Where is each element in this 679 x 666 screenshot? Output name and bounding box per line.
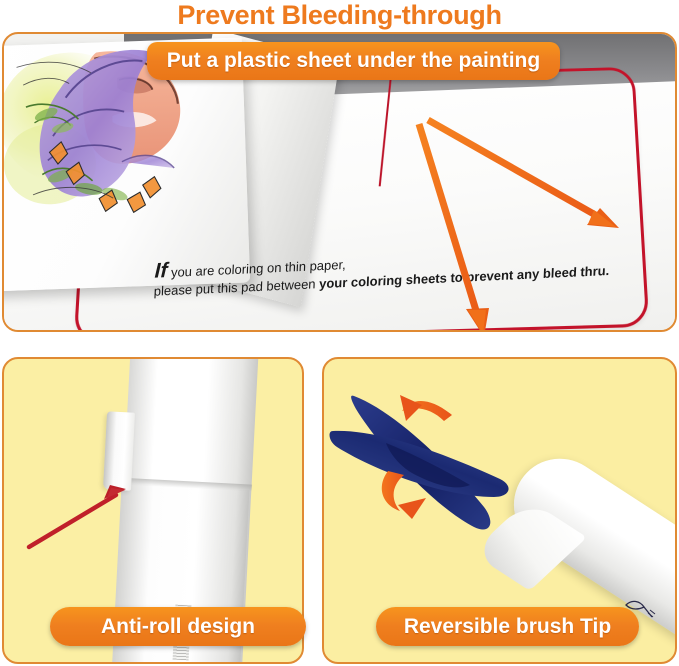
page-title: Prevent Bleeding-through	[0, 0, 679, 31]
banner-anti-roll-design[interactable]: Anti-roll design	[50, 607, 306, 646]
pad-text-lead: If	[154, 259, 168, 283]
rotation-arrow-top	[400, 395, 452, 421]
banner-put-plastic-sheet[interactable]: Put a plastic sheet under the painting	[147, 42, 560, 80]
banner-reversible-brush-tip[interactable]: Reversible brush Tip	[376, 607, 639, 646]
plastic-sheet-gloss-line	[379, 71, 393, 187]
